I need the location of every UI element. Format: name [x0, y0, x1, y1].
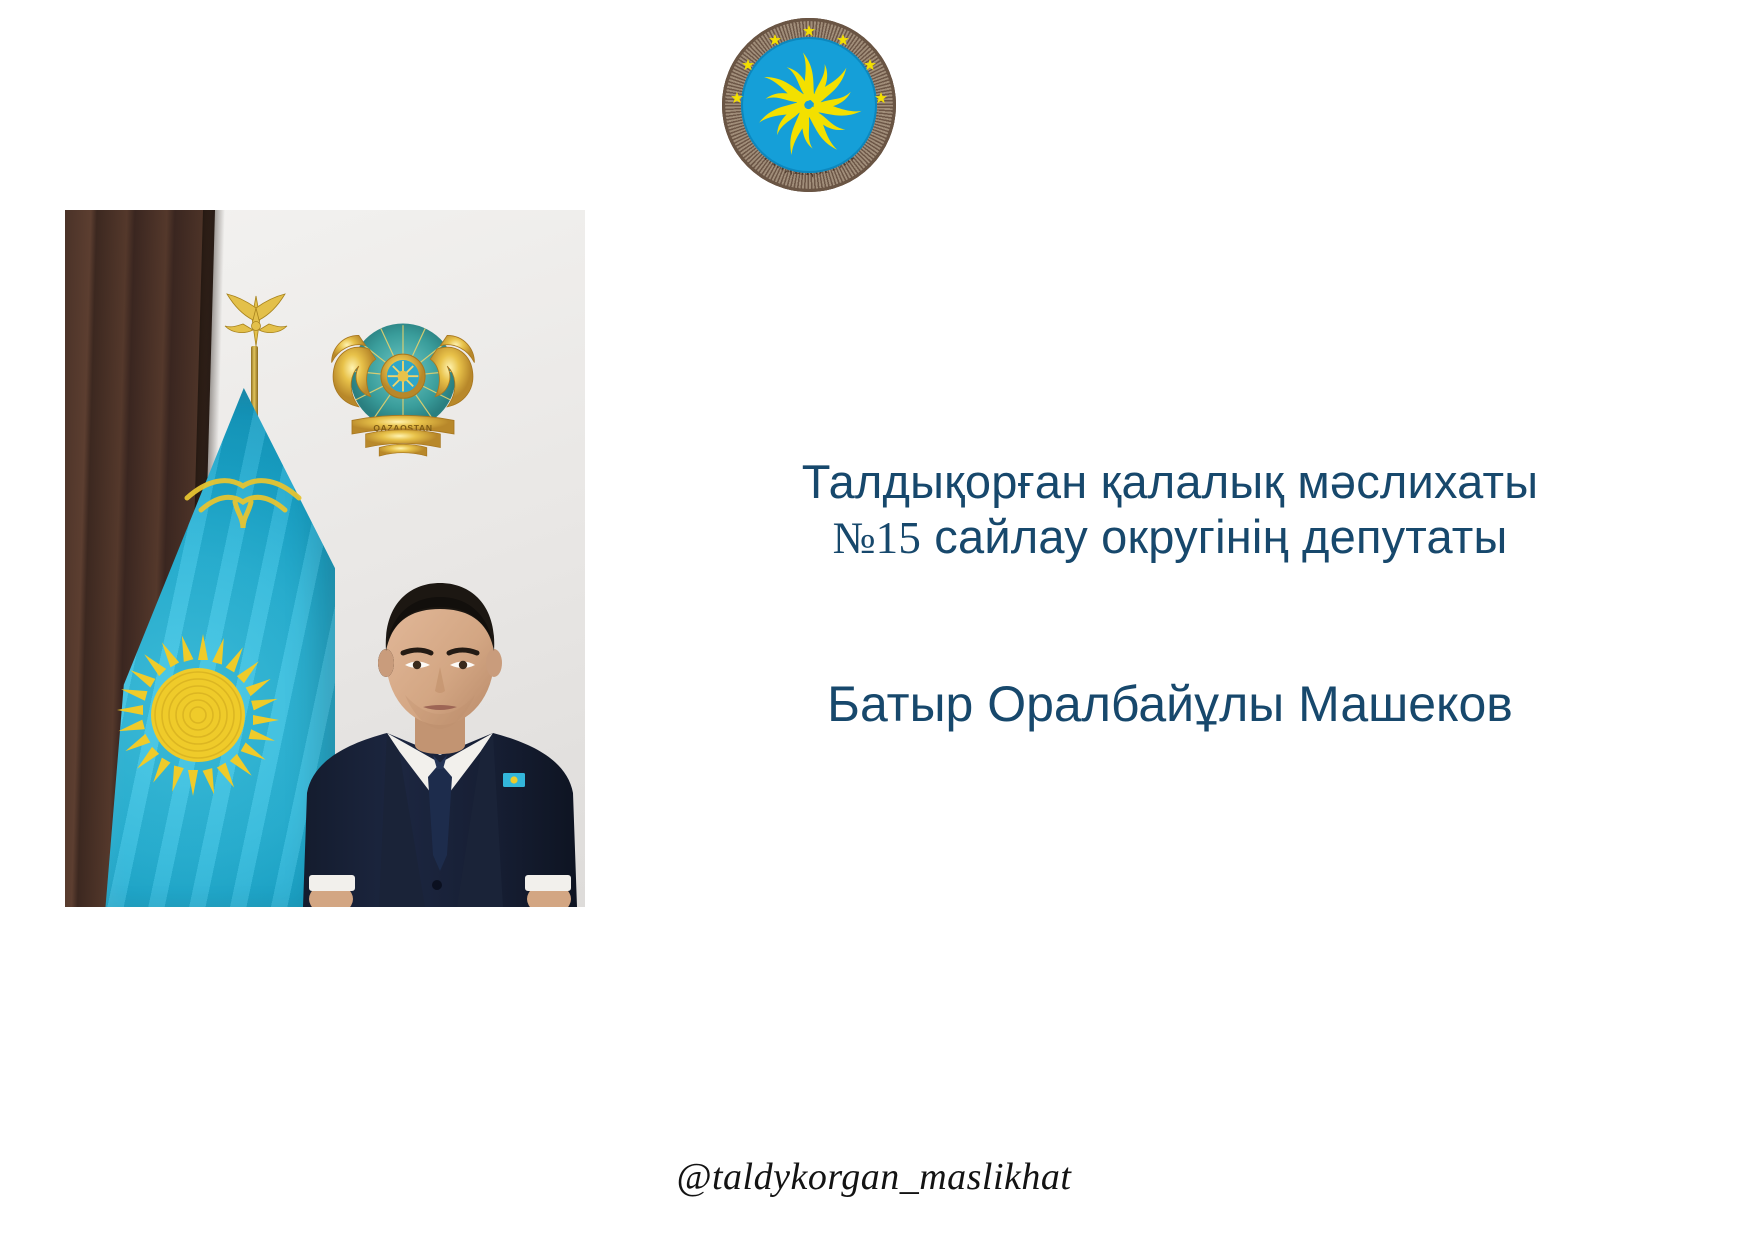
deputy-full-name: Батыр Оралбайұлы Машеков: [640, 676, 1700, 734]
headline-block: Талдықорған қалалық мәслихаты №15 сайлау…: [640, 455, 1700, 564]
district-number: №15: [832, 513, 921, 563]
social-handle: @taldykorgan_maslikhat: [0, 1155, 1748, 1199]
deputy-figure: [275, 555, 585, 907]
kazakhstan-state-emblem-icon: QAZAQSTAN: [318, 298, 488, 468]
flag-eagle-icon: [173, 440, 313, 560]
emblem-stars-group: [722, 18, 896, 192]
city-emblem: ТАЛДЫҚОРҒАН: [722, 18, 896, 192]
headline-line-1: Талдықорған қалалық мәслихаты: [640, 455, 1700, 510]
headline-line-2-rest: сайлау округінің депутаты: [921, 510, 1507, 563]
flag-sun-icon: [113, 630, 283, 800]
deputy-portrait-photo: QAZAQSTAN: [65, 210, 585, 907]
headline-line-2: №15 сайлау округінің депутаты: [640, 510, 1700, 565]
